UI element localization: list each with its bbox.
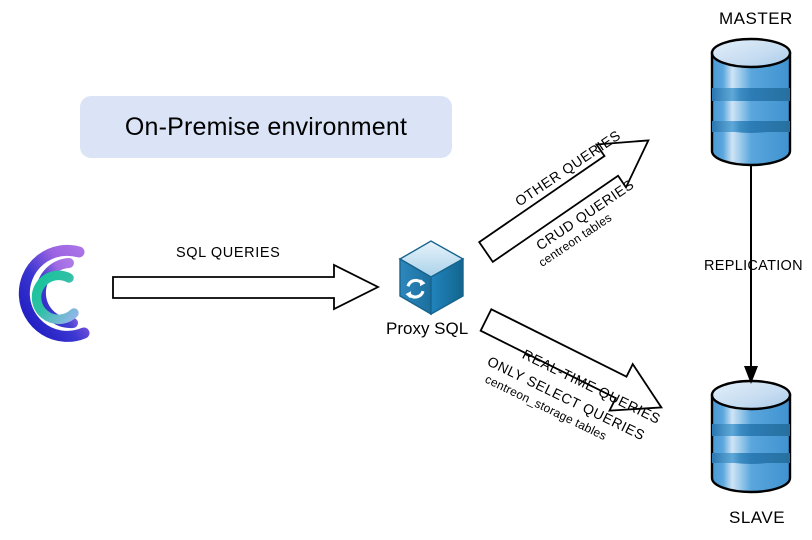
replication-arrow xyxy=(744,166,758,384)
master-database-icon xyxy=(712,39,790,165)
diagram-graphics xyxy=(0,0,812,540)
replication-label: REPLICATION xyxy=(704,258,803,274)
master-label: MASTER xyxy=(719,9,793,29)
centreon-logo-icon xyxy=(24,250,84,336)
slave-label: SLAVE xyxy=(729,508,785,528)
proxy-sql-cube-icon xyxy=(400,241,463,314)
diagram-canvas: On-Premise environment SQL QUERIES Proxy… xyxy=(0,0,812,540)
slave-database-icon xyxy=(712,381,790,492)
on-premise-box: On-Premise environment xyxy=(80,96,452,158)
sql-queries-arrow xyxy=(113,265,378,309)
proxy-sql-label: Proxy SQL xyxy=(386,319,468,339)
on-premise-label: On-Premise environment xyxy=(125,113,407,142)
sql-queries-label: SQL QUERIES xyxy=(176,245,280,261)
